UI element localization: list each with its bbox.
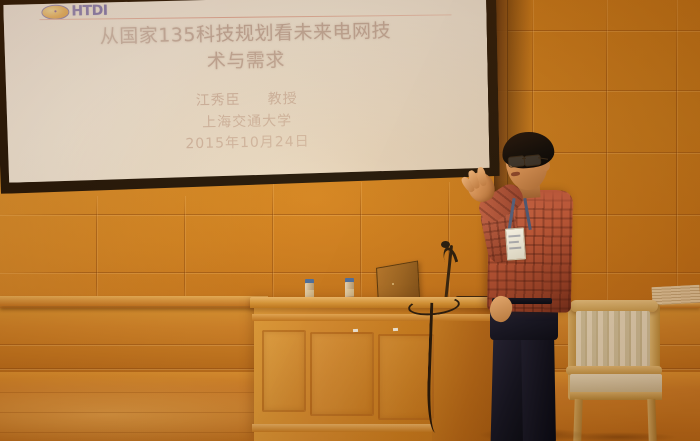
glasses-bridge <box>522 158 526 159</box>
wall-seam-vertical <box>184 196 185 306</box>
name-badge <box>505 227 526 260</box>
screen-glare <box>3 0 490 183</box>
water-bottle <box>305 279 314 299</box>
speaker-leg <box>521 332 556 441</box>
chair-leg <box>647 399 656 441</box>
bottle-neck <box>353 329 358 332</box>
hanging-cable <box>426 303 456 434</box>
bottle-label <box>345 289 354 296</box>
lectern-base-moulding <box>252 424 432 432</box>
microphone-head-icon <box>441 241 450 248</box>
laptop-logo-icon <box>392 283 394 285</box>
wall-seam-vertical <box>272 182 273 306</box>
badge-text-line <box>508 235 520 237</box>
lectern-top-surface <box>250 297 502 308</box>
wall-seam-vertical <box>96 196 97 306</box>
water-bottle <box>345 278 354 298</box>
glasses-icon <box>523 154 541 167</box>
wall-seam-vertical <box>606 0 607 300</box>
lectern-panel <box>310 332 374 416</box>
projection-screen: ● HTDI 从国家135科技规划看未来电网技 术与需求 江秀臣 教授 上海交通… <box>0 0 500 194</box>
screen-surface: ● HTDI 从国家135科技规划看未来电网技 术与需求 江秀臣 教授 上海交通… <box>3 0 490 183</box>
lectern-panel <box>378 334 434 420</box>
lecture-hall-photo: ● HTDI 从国家135科技规划看未来电网技 术与需求 江秀臣 教授 上海交通… <box>0 0 700 441</box>
badge-text-line <box>509 247 521 249</box>
bottle-label <box>305 290 314 297</box>
bottle-neck <box>393 328 398 331</box>
stage-ledge <box>0 296 268 306</box>
wall-seam-vertical <box>360 182 361 302</box>
floor-plank-seam <box>0 412 280 413</box>
lectern-panel <box>262 330 306 412</box>
badge-text-line <box>509 241 519 243</box>
wall-seam-vertical <box>676 0 677 300</box>
speaker-figure <box>470 132 600 441</box>
floor-plank-seam <box>0 432 260 433</box>
lectern-moulding <box>252 314 501 321</box>
